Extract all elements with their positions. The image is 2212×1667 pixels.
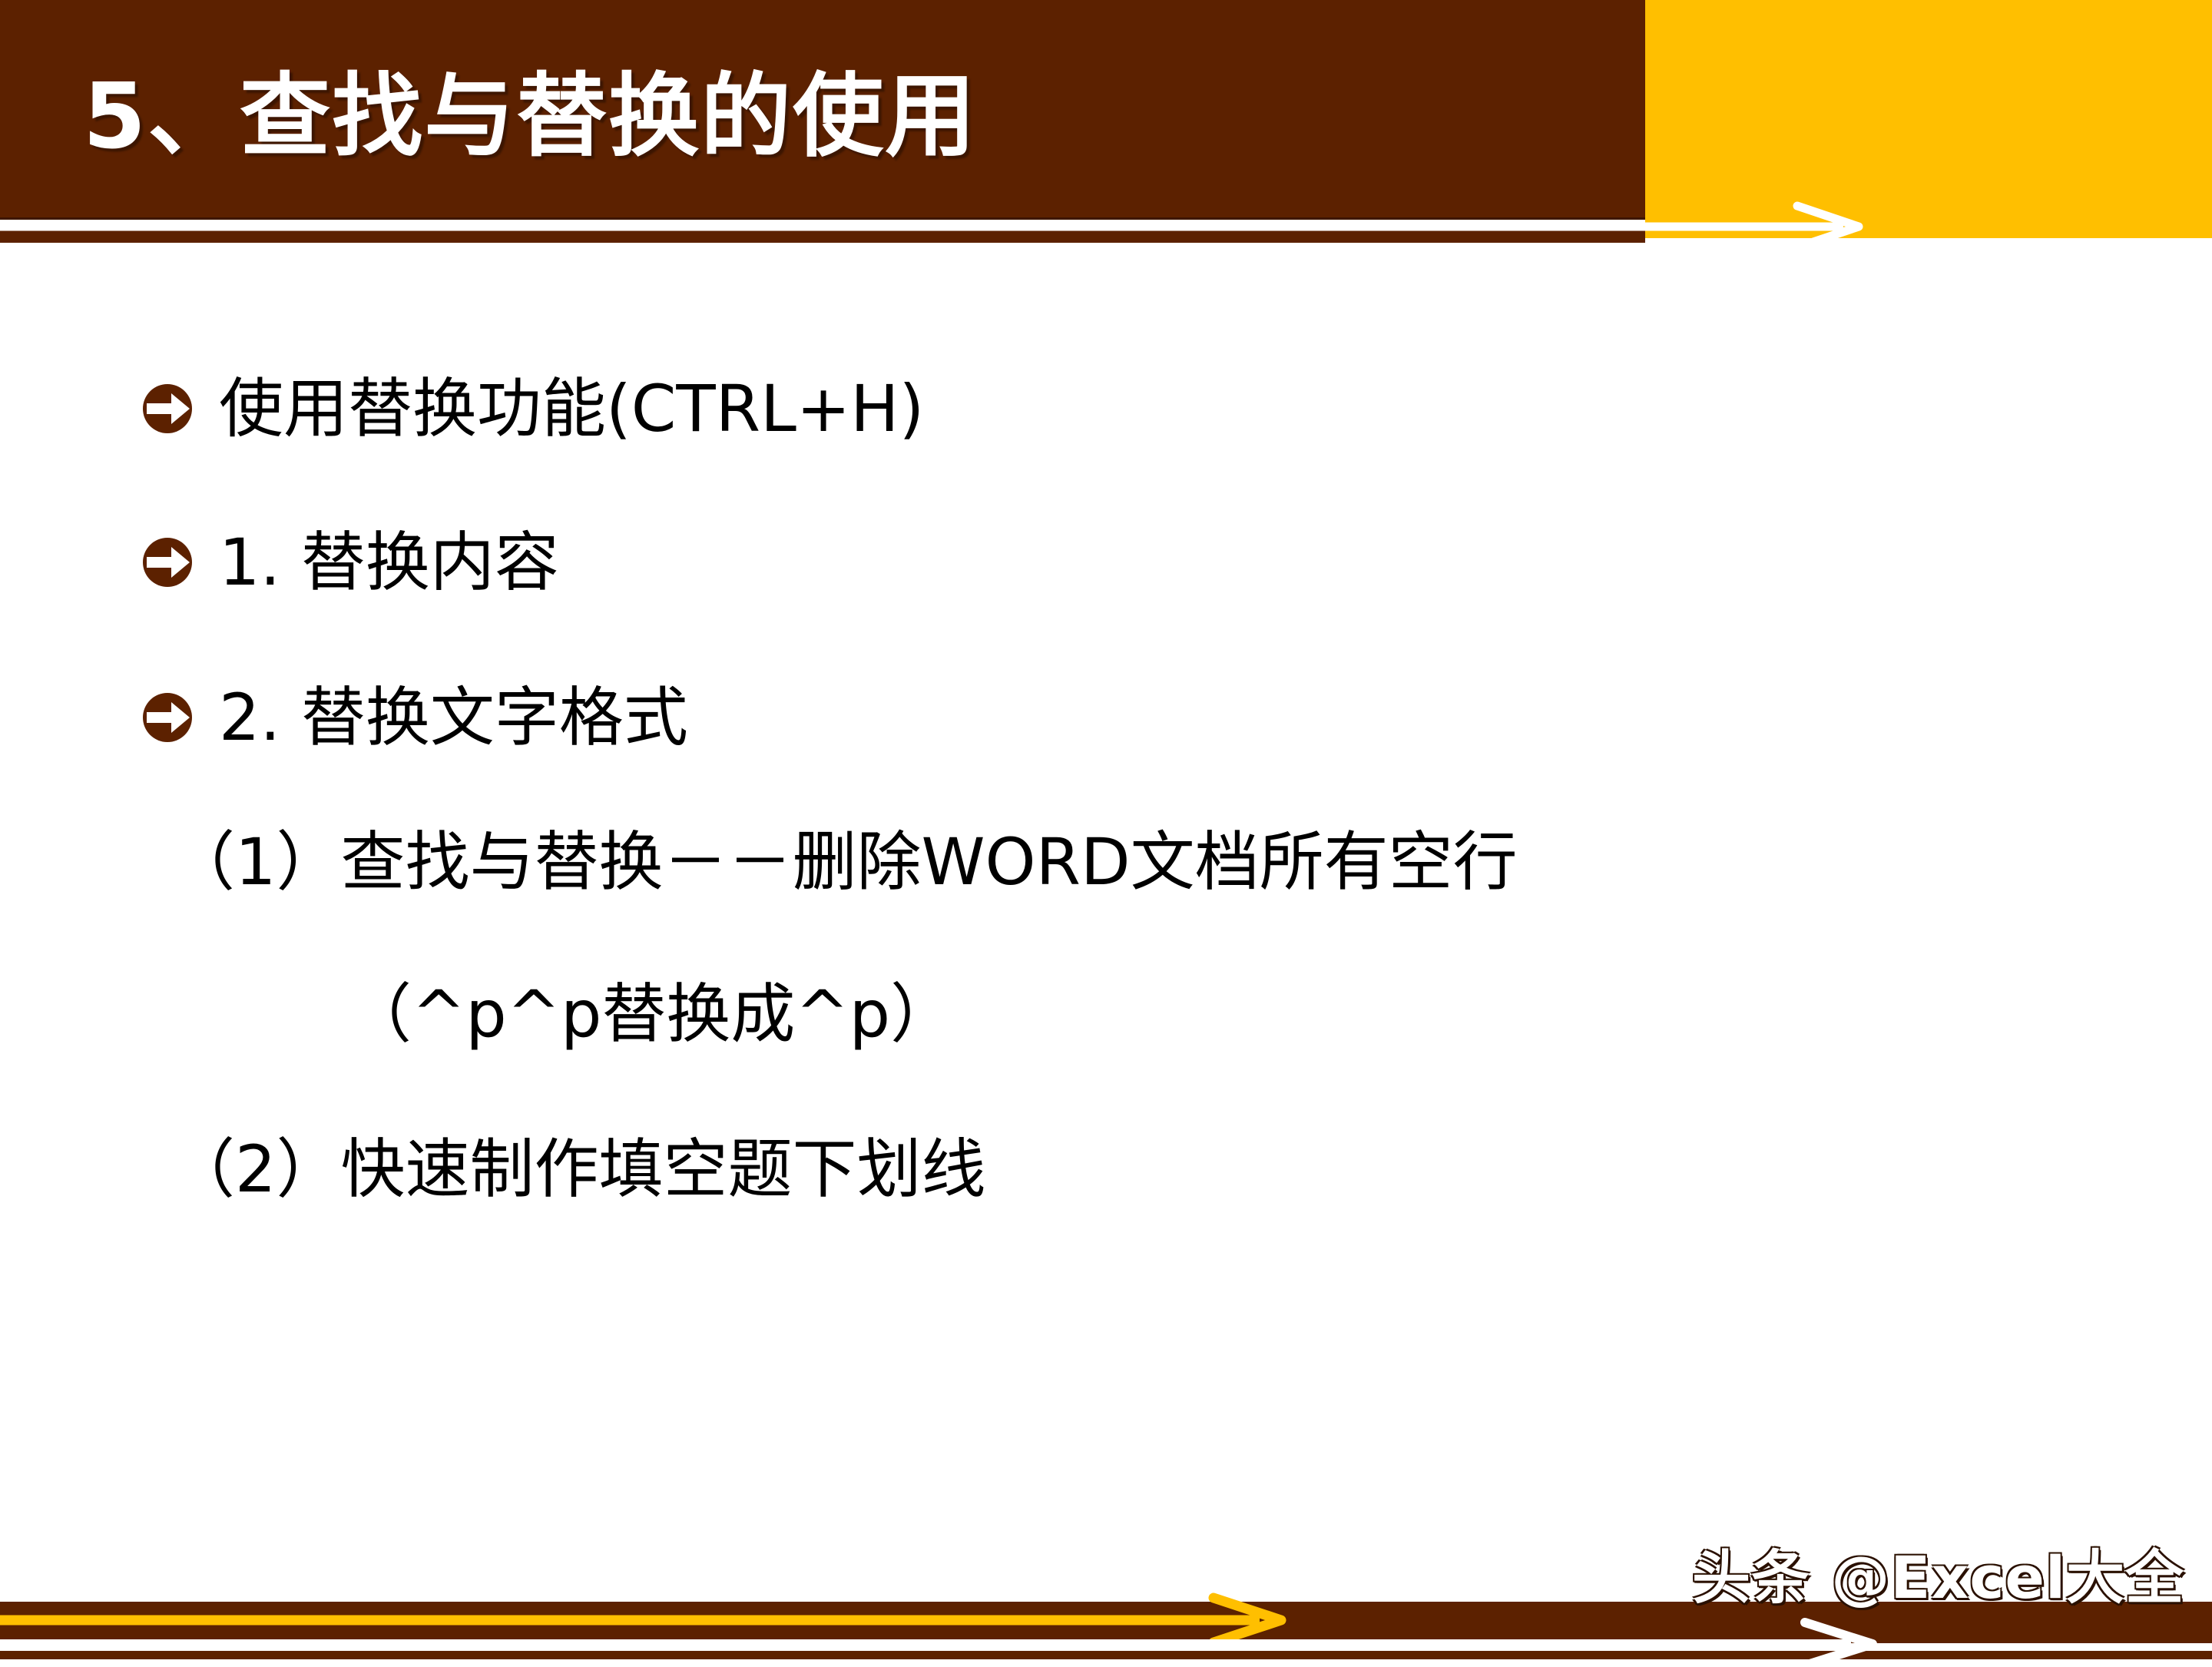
slide-canvas: 5、查找与替换的使用 使用替换功能(CTRL+H) 1. 替换内容 <box>0 0 2212 1659</box>
header-arrow-icon <box>0 206 1882 247</box>
header-yellow-block <box>1645 0 2212 238</box>
arrow-circle-bullet-icon <box>142 383 193 434</box>
bullet-item-3-label: 2. 替换文字格式 <box>219 685 688 750</box>
watermark-label: 头条 @Excel大全 <box>1692 1530 2184 1615</box>
slide-body: 使用替换功能(CTRL+H) 1. 替换内容 2. 替换文字格式 （1）查找与替… <box>0 300 2212 1298</box>
bullet-item-1-label: 使用替换功能(CTRL+H) <box>219 376 924 441</box>
arrow-circle-bullet-icon <box>142 537 193 588</box>
bullet-item-2: 1. 替换内容 <box>142 530 559 595</box>
sub-line-3: （2）快速制作填空题下划线 <box>171 1137 985 1201</box>
footer-white-arrow-icon <box>0 1621 1897 1667</box>
sub-line-1: （1）查找与替换－－删除WORD文档所有空行 <box>171 830 1518 894</box>
bullet-item-1: 使用替换功能(CTRL+H) <box>142 376 924 441</box>
arrow-circle-bullet-icon <box>142 692 193 743</box>
bullet-item-3: 2. 替换文字格式 <box>142 685 688 750</box>
sub-line-2: （^p^p替换成^p） <box>347 982 955 1046</box>
bullet-item-2-label: 1. 替换内容 <box>219 530 559 595</box>
slide-title: 5、查找与替换的使用 <box>83 71 977 161</box>
